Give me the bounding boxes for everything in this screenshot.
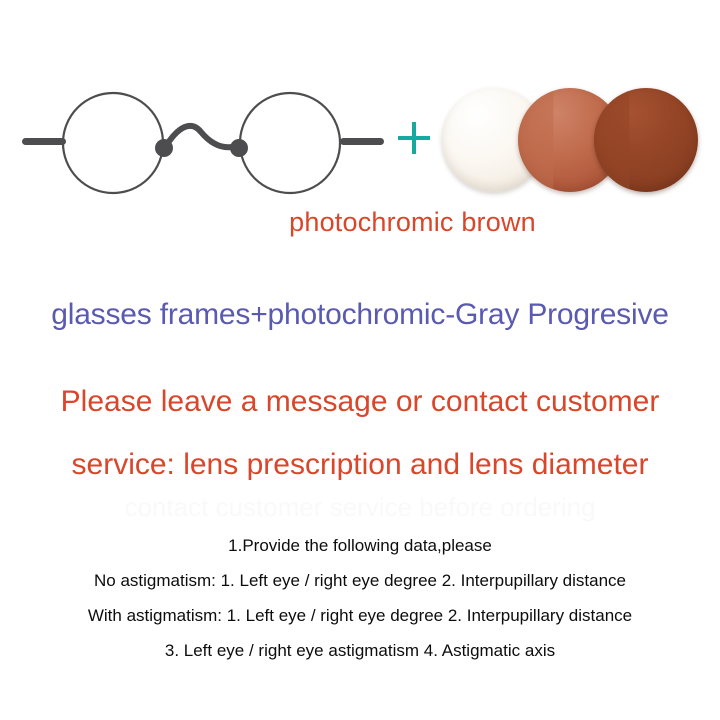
product-headline: glasses frames+photochromic-Gray Progres… (0, 298, 720, 332)
frame-bridge (166, 126, 237, 147)
right-temple-arm (340, 138, 384, 145)
photochromic-caption: photochromic brown (0, 207, 720, 238)
instruction-line-2: No astigmatism: 1. Left eye / right eye … (0, 563, 720, 598)
eyeglasses-frame-icon (0, 60, 400, 230)
notice-line-2: service: lens prescription and lens diam… (0, 433, 720, 496)
product-listing-image: photochromic brown glasses frames+photoc… (0, 0, 720, 720)
right-hinge-pad (230, 139, 248, 157)
left-temple-arm (22, 138, 66, 145)
photochromic-lens-discs (430, 76, 720, 206)
lens-disc-dark (594, 88, 698, 192)
right-lens-rim (240, 93, 340, 193)
left-lens-rim (63, 93, 163, 193)
customer-service-notice: Please leave a message or contact custom… (0, 370, 720, 496)
left-hinge-pad (155, 139, 173, 157)
faded-notice-line: contact customer service before ordering (0, 492, 720, 523)
instruction-line-4: 3. Left eye / right eye astigmatism 4. A… (0, 633, 720, 668)
product-illustration: photochromic brown (0, 0, 720, 260)
eyeglasses-svg (0, 60, 400, 230)
instruction-line-1: 1.Provide the following data,please (0, 528, 720, 563)
notice-line-1: Please leave a message or contact custom… (0, 370, 720, 433)
instruction-line-3: With astigmatism: 1. Left eye / right ey… (0, 598, 720, 633)
prescription-instructions: 1.Provide the following data,please No a… (0, 528, 720, 668)
